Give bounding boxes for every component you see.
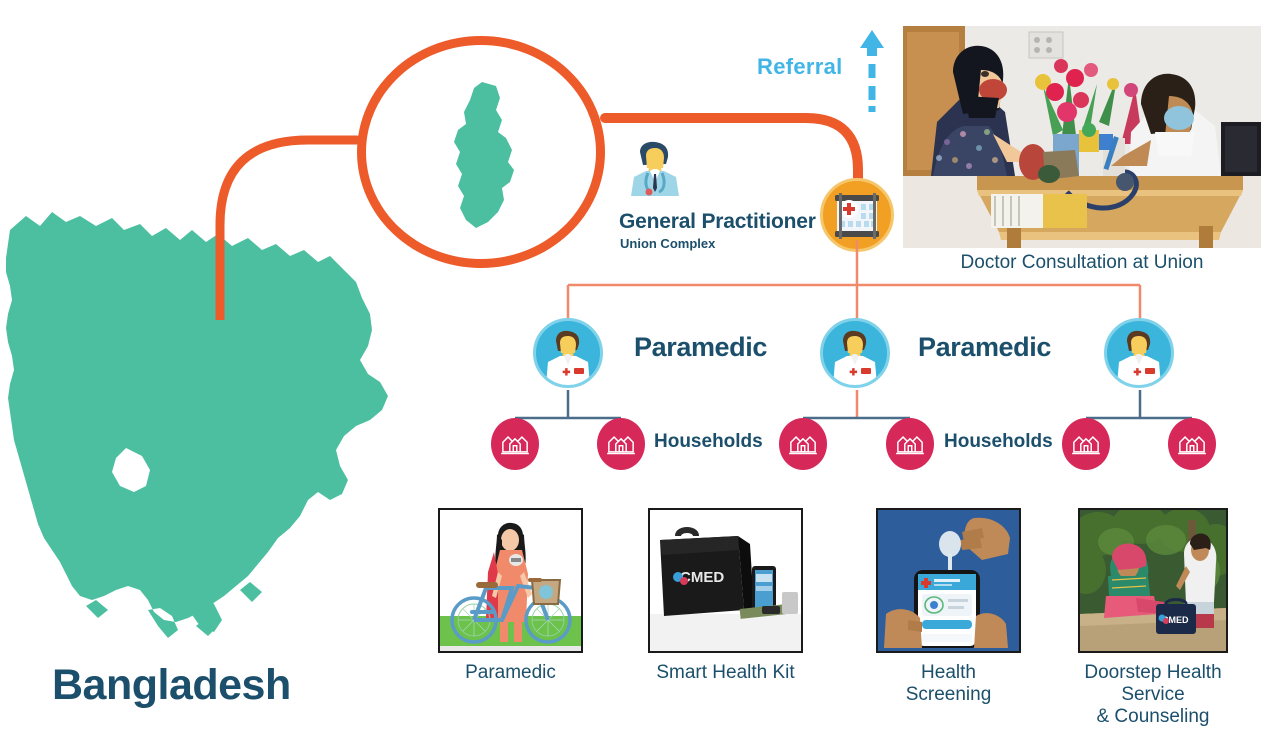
union-region-shape [440,80,530,230]
paramedic-node-2[interactable] [820,318,890,388]
household-node[interactable] [779,418,827,470]
card-health-screening: Health Screening [876,508,1021,706]
paramedic-icon [823,321,887,385]
referral-label: Referral [757,54,843,80]
household-node[interactable] [597,418,645,470]
house-icon [1177,431,1207,457]
card-smart-health-kit: CMED Smart Health Kit [648,508,803,684]
caption-paramedic: Paramedic [438,662,583,684]
paramedic-label-2: Paramedic [918,332,1051,363]
doctor-consultation-photo [903,26,1261,248]
caption-doorstep-line1: Doorstep Health Service & Counseling [1084,662,1221,727]
paramedic-illustration [438,508,583,653]
house-icon [1071,431,1101,457]
health-screening-photo [876,508,1021,653]
infographic-canvas: Bangladesh Referral [0,0,1280,733]
card-paramedic: Paramedic [438,508,583,684]
caption-smart-health-kit: Smart Health Kit [648,662,803,684]
paramedic-icon [1107,321,1171,385]
paramedic-label-1: Paramedic [634,332,767,363]
paramedic-node-1[interactable] [533,318,603,388]
household-node[interactable] [1062,418,1110,470]
paramedic-icon [536,321,600,385]
hospital-icon [823,181,891,249]
caption-doorstep-service: Doorstep Health Service & Counseling [1078,662,1228,728]
page-title: Bangladesh [52,661,291,710]
paramedic-node-3[interactable] [1104,318,1174,388]
house-icon [606,431,636,457]
gp-title: General Practitioner [619,210,816,234]
referral-arrow-icon [858,28,886,112]
smart-health-kit-photo: CMED [648,508,803,653]
card-doorstep-service: CMED Doorstep Health Service & Counselin… [1078,508,1228,728]
household-node[interactable] [1168,418,1216,470]
caption-health-screening: Health Screening [876,662,1021,706]
household-node[interactable] [886,418,934,470]
house-icon [788,431,818,457]
households-label-1: Households [654,431,763,453]
house-icon [500,431,530,457]
household-node[interactable] [491,418,539,470]
house-icon [895,431,925,457]
doorstep-service-photo: CMED [1078,508,1228,653]
doctor-icon [624,140,686,202]
households-label-2: Households [944,431,1053,453]
